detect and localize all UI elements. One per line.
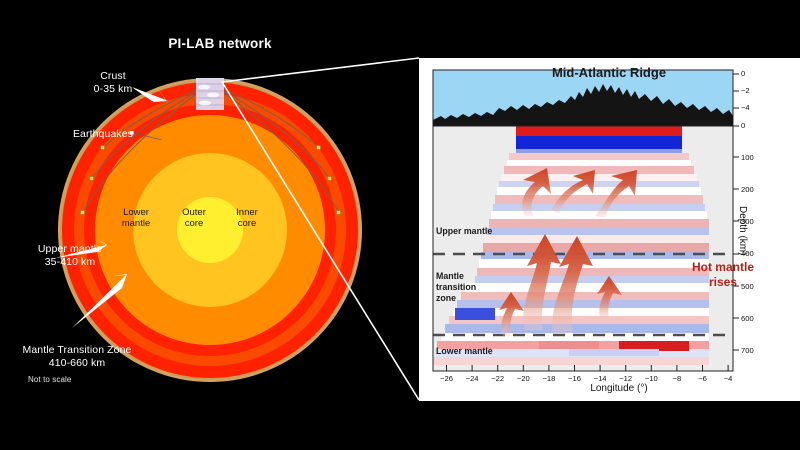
elevation-tick-label: −2 — [741, 86, 763, 95]
depth-tick-label: 400 — [741, 249, 763, 258]
upper-mantle-label: Upper mantle 35-410 km — [10, 243, 130, 269]
x-tick-label: −12 — [615, 374, 637, 383]
crust-label: Crust 0-35 km — [70, 70, 156, 96]
x-axis-title: Longitude (°) — [479, 383, 759, 394]
depth-tick-label: 0 — [741, 121, 763, 130]
depth-tick-label: 600 — [741, 314, 763, 323]
tomography-image — [433, 126, 733, 371]
x-tick-label: −20 — [512, 374, 534, 383]
lower-mantle-inner-label: Lower mantle — [108, 207, 164, 230]
depth-tick-label: 200 — [741, 185, 763, 194]
depth-tick-label: 300 — [741, 217, 763, 226]
x-tick-label: −26 — [436, 374, 458, 383]
x-tick-label: −24 — [461, 374, 483, 383]
x-tick-label: −18 — [538, 374, 560, 383]
elevation-tick-label: −4 — [741, 103, 763, 112]
figure-root: PI-LAB network — [0, 0, 800, 450]
figure-title: Mid-Atlantic Ridge — [459, 65, 759, 80]
x-tick-label: −8 — [666, 374, 688, 383]
x-tick-label: −22 — [487, 374, 509, 383]
inner-core-inner-label: Inner core — [222, 207, 272, 230]
outer-core-inner-label: Outer core — [168, 207, 220, 230]
y-axis-title: Depth (km) — [737, 206, 748, 255]
depth-tick-label: 700 — [741, 346, 763, 355]
pi-lab-station-array — [196, 78, 224, 110]
depth-tick-label: 100 — [741, 153, 763, 162]
depth-tick-label: 500 — [741, 282, 763, 291]
x-tick-label: −4 — [717, 374, 739, 383]
zone-label-upper-mantle: Upper mantle — [436, 226, 492, 237]
connector-top — [222, 58, 419, 82]
x-tick-label: −6 — [692, 374, 714, 383]
not-to-scale-note: Not to scale — [28, 375, 71, 385]
zone-label-mantle-transition-zone: Mantle transition zone — [436, 271, 476, 304]
x-tick-label: −10 — [640, 374, 662, 383]
x-tick-label: −16 — [564, 374, 586, 383]
earth-cross-section-panel: PI-LAB network — [0, 0, 420, 450]
tomography-figure-panel: Mid-Atlantic Ridge Upper mantle Mantle t… — [419, 58, 800, 401]
earthquakes-label: Earthquakes — [47, 128, 133, 141]
x-tick-label: −14 — [589, 374, 611, 383]
zone-label-lower-mantle: Lower mantle — [436, 346, 493, 357]
mantle-transition-zone-label: Mantle Transition Zone 410-660 km — [2, 344, 152, 370]
elevation-tick-label: 0 — [741, 69, 763, 78]
